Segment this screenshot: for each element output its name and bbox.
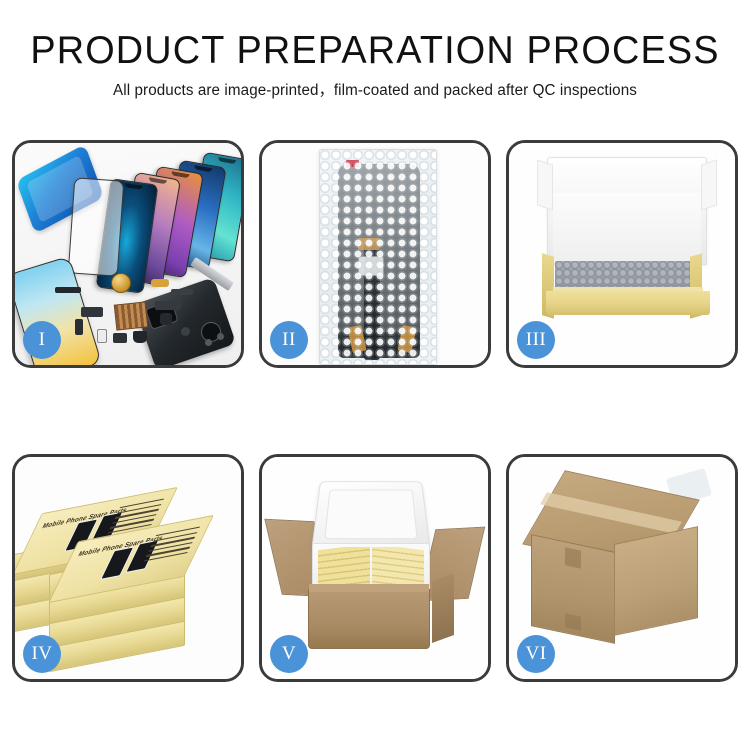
yellow-box-row-right xyxy=(372,547,424,589)
step-badge-1: I xyxy=(23,321,61,359)
yellow-box-row-left xyxy=(318,547,370,589)
screw-icon xyxy=(181,327,190,336)
notch-icon xyxy=(125,183,144,190)
notch-icon xyxy=(193,165,211,172)
spare-part xyxy=(97,329,107,343)
carton-front-panel xyxy=(308,589,430,649)
step-panel-3[interactable]: III xyxy=(506,140,738,368)
spare-part xyxy=(113,333,127,343)
screw-icon xyxy=(205,339,212,346)
steps-grid: I II xyxy=(12,140,738,682)
step-badge-3: III xyxy=(517,321,555,359)
tempered-glass-sheet xyxy=(68,177,125,276)
bubble-wrap-bag xyxy=(319,149,437,365)
screw-icon xyxy=(217,333,224,340)
phone-screen-fan xyxy=(101,153,241,278)
step-badge-2: II xyxy=(270,321,308,359)
notch-icon xyxy=(171,171,189,178)
page-title: PRODUCT PREPARATION PROCESS xyxy=(11,28,739,74)
step-panel-2[interactable]: II xyxy=(259,140,491,368)
spare-part xyxy=(81,307,103,317)
product-preparation-infographic: PRODUCT PREPARATION PROCESS All products… xyxy=(0,0,750,750)
spare-part xyxy=(151,279,169,287)
carton-side-panel xyxy=(432,573,454,643)
carton-flap-seam-upper xyxy=(565,547,581,568)
step-panel-5[interactable]: V xyxy=(259,454,491,682)
page-subtitle: All products are image-printed，film-coat… xyxy=(8,80,743,102)
step-panel-1[interactable]: I xyxy=(12,140,244,368)
notch-icon xyxy=(218,157,237,164)
speaker-component xyxy=(111,273,131,293)
spare-part xyxy=(160,313,172,325)
red-qc-label xyxy=(346,160,359,167)
adhesive-tape xyxy=(358,238,380,250)
step-badge-6: VI xyxy=(517,635,555,673)
lcd-connector xyxy=(358,256,384,276)
connector-grid-component xyxy=(114,301,149,330)
yellow-boxes-inside xyxy=(318,547,424,589)
spare-part xyxy=(55,287,81,293)
spare-part xyxy=(155,301,181,310)
spare-part xyxy=(171,289,193,295)
header: PRODUCT PREPARATION PROCESS All products… xyxy=(0,28,750,102)
box-spec-lines xyxy=(140,527,200,569)
step-badge-5: V xyxy=(270,635,308,673)
step-badge-4: IV xyxy=(23,635,61,673)
white-foam-liner xyxy=(553,193,701,263)
carton-right-face xyxy=(614,526,698,636)
box-front-panel xyxy=(546,291,710,315)
step-panel-6[interactable]: VI xyxy=(506,454,738,682)
step-panel-4[interactable]: Mobile Phone Spare Parts Mobile Phone Sp… xyxy=(12,454,244,682)
spare-part xyxy=(75,319,83,335)
spare-part xyxy=(133,331,147,343)
foam-box-lid xyxy=(311,481,430,550)
